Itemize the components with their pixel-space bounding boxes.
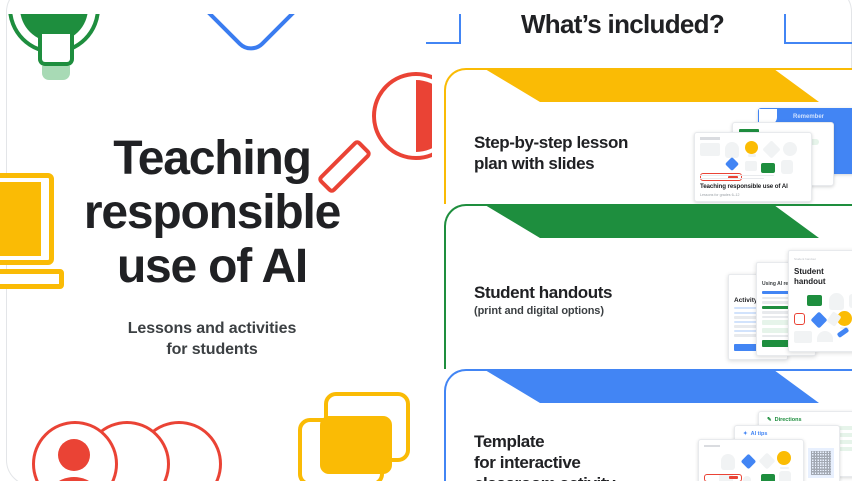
page-subtitle: Lessons and activities for students — [0, 318, 424, 360]
subtitle-line-1: Lessons and activities — [128, 320, 297, 337]
card-accent-bar-blue — [444, 369, 852, 403]
directions-chip: ✎ Directions — [767, 417, 802, 423]
title-line-1: Teaching — [113, 132, 311, 185]
aitips-label: AI tips — [751, 431, 768, 437]
card-thumbnail-handouts: v1 Activity Using AI re… — [728, 250, 852, 362]
card-thumbnail-slides: Remember Let’s discuss — [694, 106, 852, 216]
people-group-icon — [32, 421, 228, 481]
card-title-line-3: classroom activity — [474, 474, 615, 481]
lightbulb-icon — [8, 14, 104, 86]
title-line-2: responsible — [84, 186, 340, 239]
slide-canvas: Teaching responsible use of AI Lessons a… — [0, 0, 854, 481]
handout-page-student-handout: Student handout Student handout — [788, 250, 852, 352]
whats-included-panel: What’s included? Step-by-step lesson pla… — [426, 14, 852, 481]
hero-section: Teaching responsible use of AI Lessons a… — [0, 14, 432, 481]
card-accent-bar-green — [444, 204, 852, 238]
subtitle-line-2: for students — [166, 341, 257, 358]
whats-included-label: What’s included? — [521, 14, 724, 40]
handout-eyebrow: Student handout — [794, 257, 816, 261]
handout-page-title: Student handout — [794, 267, 826, 286]
card-thumbnail-template: ✎ Directions ✦ AI tips Subjects Topics — [698, 411, 852, 481]
slide-front-cover: Teaching responsible use of AI Lessons f… — [694, 132, 812, 202]
slide-remember-label: Remember — [793, 114, 824, 120]
card-accent-bar-yellow — [444, 68, 852, 102]
qr-code — [808, 448, 834, 478]
card-title-line-2: plan with slides — [474, 154, 594, 173]
card-student-handouts[interactable]: Student handouts (print and digital opti… — [444, 204, 852, 372]
hero-text-block: Teaching responsible use of AI Lessons a… — [0, 132, 424, 360]
card-lesson-plan[interactable]: Step-by-step lesson plan with slides Rem… — [444, 68, 852, 220]
slide-front-subtitle: Lessons for grades 6–12 — [700, 193, 740, 197]
whats-included-tab[interactable]: What’s included? — [459, 14, 786, 44]
card-title: Template for interactive classroom activ… — [474, 431, 615, 481]
chat-bubbles-icon — [298, 392, 418, 481]
card-title-line-2: for interactive — [474, 453, 580, 472]
page-title: Teaching responsible use of AI — [0, 132, 424, 294]
slide-front-title: Teaching responsible use of AI — [700, 183, 788, 190]
card-activity-template[interactable]: Template for interactive classroom activ… — [444, 369, 852, 481]
card-subtitle: (print and digital options) — [474, 304, 604, 318]
panel-header: What’s included? — [426, 14, 852, 60]
aitips-chip: ✦ AI tips — [743, 431, 767, 437]
diamond-shield-icon — [208, 14, 310, 58]
card-title: Student handouts — [474, 282, 612, 303]
card-title-line-1: Step-by-step lesson — [474, 133, 628, 152]
card-title-line-1: Template — [474, 432, 544, 451]
pencil-icon: ✎ — [767, 417, 772, 423]
sparkle-icon: ✦ — [743, 431, 748, 437]
card-title: Step-by-step lesson plan with slides — [474, 132, 628, 174]
handout-page-activity-title: Activity — [734, 297, 757, 304]
title-line-3: use of AI — [117, 240, 307, 293]
directions-label: Directions — [775, 417, 802, 423]
template-panel-front: In-Class Activity Template — [698, 439, 804, 481]
